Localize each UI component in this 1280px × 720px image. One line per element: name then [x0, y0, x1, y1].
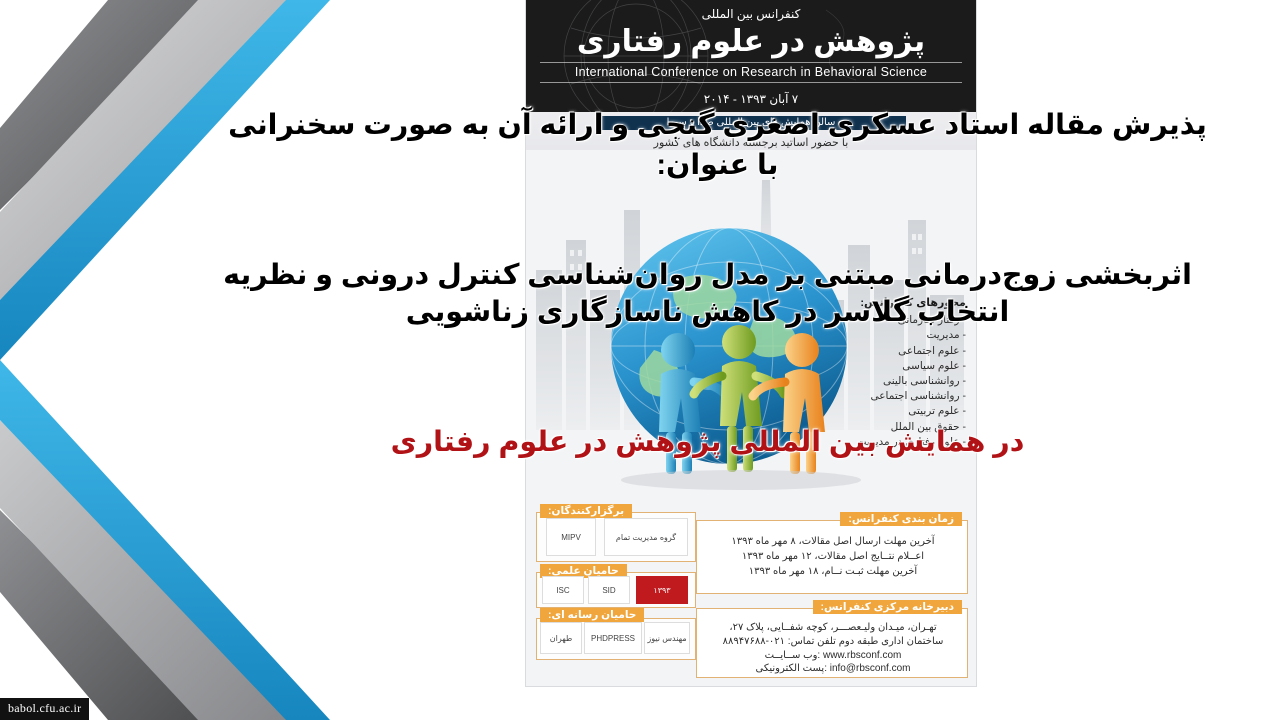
slide-canvas: کنفرانس بین المللی پژوهش در علوم رفتاری …: [0, 0, 1280, 720]
topic-item: - علوم اجتماعی: [816, 344, 966, 359]
media-supporter-logo: مهندس نیوز: [644, 622, 690, 654]
secretariat-email[interactable]: پست الکترونیکی: info@rbsconf.com: [704, 661, 962, 676]
poster-header: کنفرانس بین المللی پژوهش در علوم رفتاری …: [526, 0, 976, 112]
poster-title-fa: پژوهش در علوم رفتاری: [540, 24, 962, 59]
scientific-supporter-logo: ISC: [542, 576, 584, 604]
paper-title-line-2: انتخاب گلاسر در کاهش ناسازگاری زناشویی: [150, 292, 1265, 332]
poster-date-fa: ۷ آبان ۱۳۹۳ - ۲۰۱۴: [540, 92, 962, 106]
schedule-line: اعــلام نتــایج اصل مقالات، ۱۲ مهر ماه ۱…: [704, 549, 962, 564]
media-supporters-heading: حامیان رسانه ای:: [540, 608, 644, 622]
poster-kicker: کنفرانس بین المللی: [540, 7, 962, 21]
secretariat-heading: دبیرخانه مرکزی کنفرانس:: [813, 600, 962, 614]
schedule-line: آخرین مهلت ارسال اصل مقالات، ۸ مهر ماه ۱…: [704, 534, 962, 549]
topic-item: - علوم سیاسی: [816, 359, 966, 374]
topic-item: - روانشناسی بالینی: [816, 374, 966, 389]
announcement-line-2: با عنوان:: [170, 145, 1265, 185]
topic-item: - علوم تربیتی: [816, 404, 966, 419]
schedule-heading: زمان بندی کنفرانس:: [840, 512, 962, 526]
scientific-supporter-logo: SID: [588, 576, 630, 604]
announcement-line-1: پذیرش مقاله استاد عسکری اصغری گنجی و ارا…: [170, 105, 1265, 145]
conference-reference-line: در همایش بین المللی پژوهش در علوم رفتاری: [150, 422, 1265, 462]
secretariat-line: تهـران، میـدان ولیـعصـــر، کوچه شفــایی،…: [704, 620, 962, 635]
media-supporter-logo: طهران: [540, 622, 582, 654]
organizer-logo: MIPV: [546, 518, 596, 556]
paper-title-line-1: اثربخشی زوج‌درمانی مبتنی بر مدل روان‌شنا…: [150, 255, 1265, 295]
site-url-badge: babol.cfu.ac.ir: [0, 698, 89, 720]
conference-poster: کنفرانس بین المللی پژوهش در علوم رفتاری …: [526, 0, 976, 686]
scientific-supporter-logo: ۱۳۹۳: [636, 576, 688, 604]
organizers-heading: برگزارکنندگان:: [540, 504, 632, 518]
topic-item: - روانشناسی اجتماعی: [816, 389, 966, 404]
schedule-line: آخرین مهلت ثبـت نــام، ۱۸ مهر ماه ۱۳۹۳: [704, 564, 962, 579]
media-supporter-logo: PHDPRESS: [584, 622, 642, 654]
secretariat-line: ساختمان اداری طبقه دوم تلفن تماس: ۰۲۱-۸۸…: [704, 634, 962, 649]
organizer-logo: گروه مدیریت تمام: [604, 518, 688, 556]
poster-title-en: International Conference on Research in …: [540, 62, 962, 83]
